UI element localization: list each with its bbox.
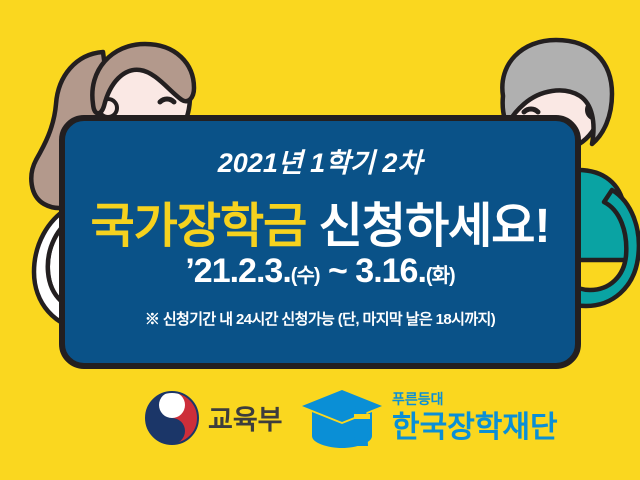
foundation-tagline: 푸른등대: [392, 391, 444, 407]
headline-rest: 신청하세요!: [319, 200, 550, 253]
application-period: ’21.2.3.(수) ~ 3.16.(화): [0, 252, 640, 291]
headline-highlight: 국가장학금: [91, 200, 307, 253]
date-start-day: (수): [291, 265, 320, 287]
date-start: .2.3.: [230, 252, 291, 290]
banner-canvas: 교육부 푸른등대 한국장학재단 2021년 1학기 2차 국가장학금 신청하세요…: [0, 0, 640, 480]
ministry-label: 교육부: [208, 405, 283, 435]
date-year: ’21: [185, 252, 229, 290]
headline: 국가장학금 신청하세요!: [0, 186, 640, 256]
term-line: 2021년 1학기 2차: [0, 141, 640, 180]
date-separator: ~: [328, 252, 347, 290]
date-end: 3.16.: [355, 252, 426, 290]
application-note: ※ 신청기간 내 24시간 신청가능 (단, 마지막 날은 18시까지): [0, 308, 640, 329]
foundation-label: 한국장학재단: [392, 411, 558, 444]
lighthouse-band: [354, 414, 370, 419]
date-end-day: (화): [426, 265, 455, 287]
lighthouse: [354, 404, 368, 446]
